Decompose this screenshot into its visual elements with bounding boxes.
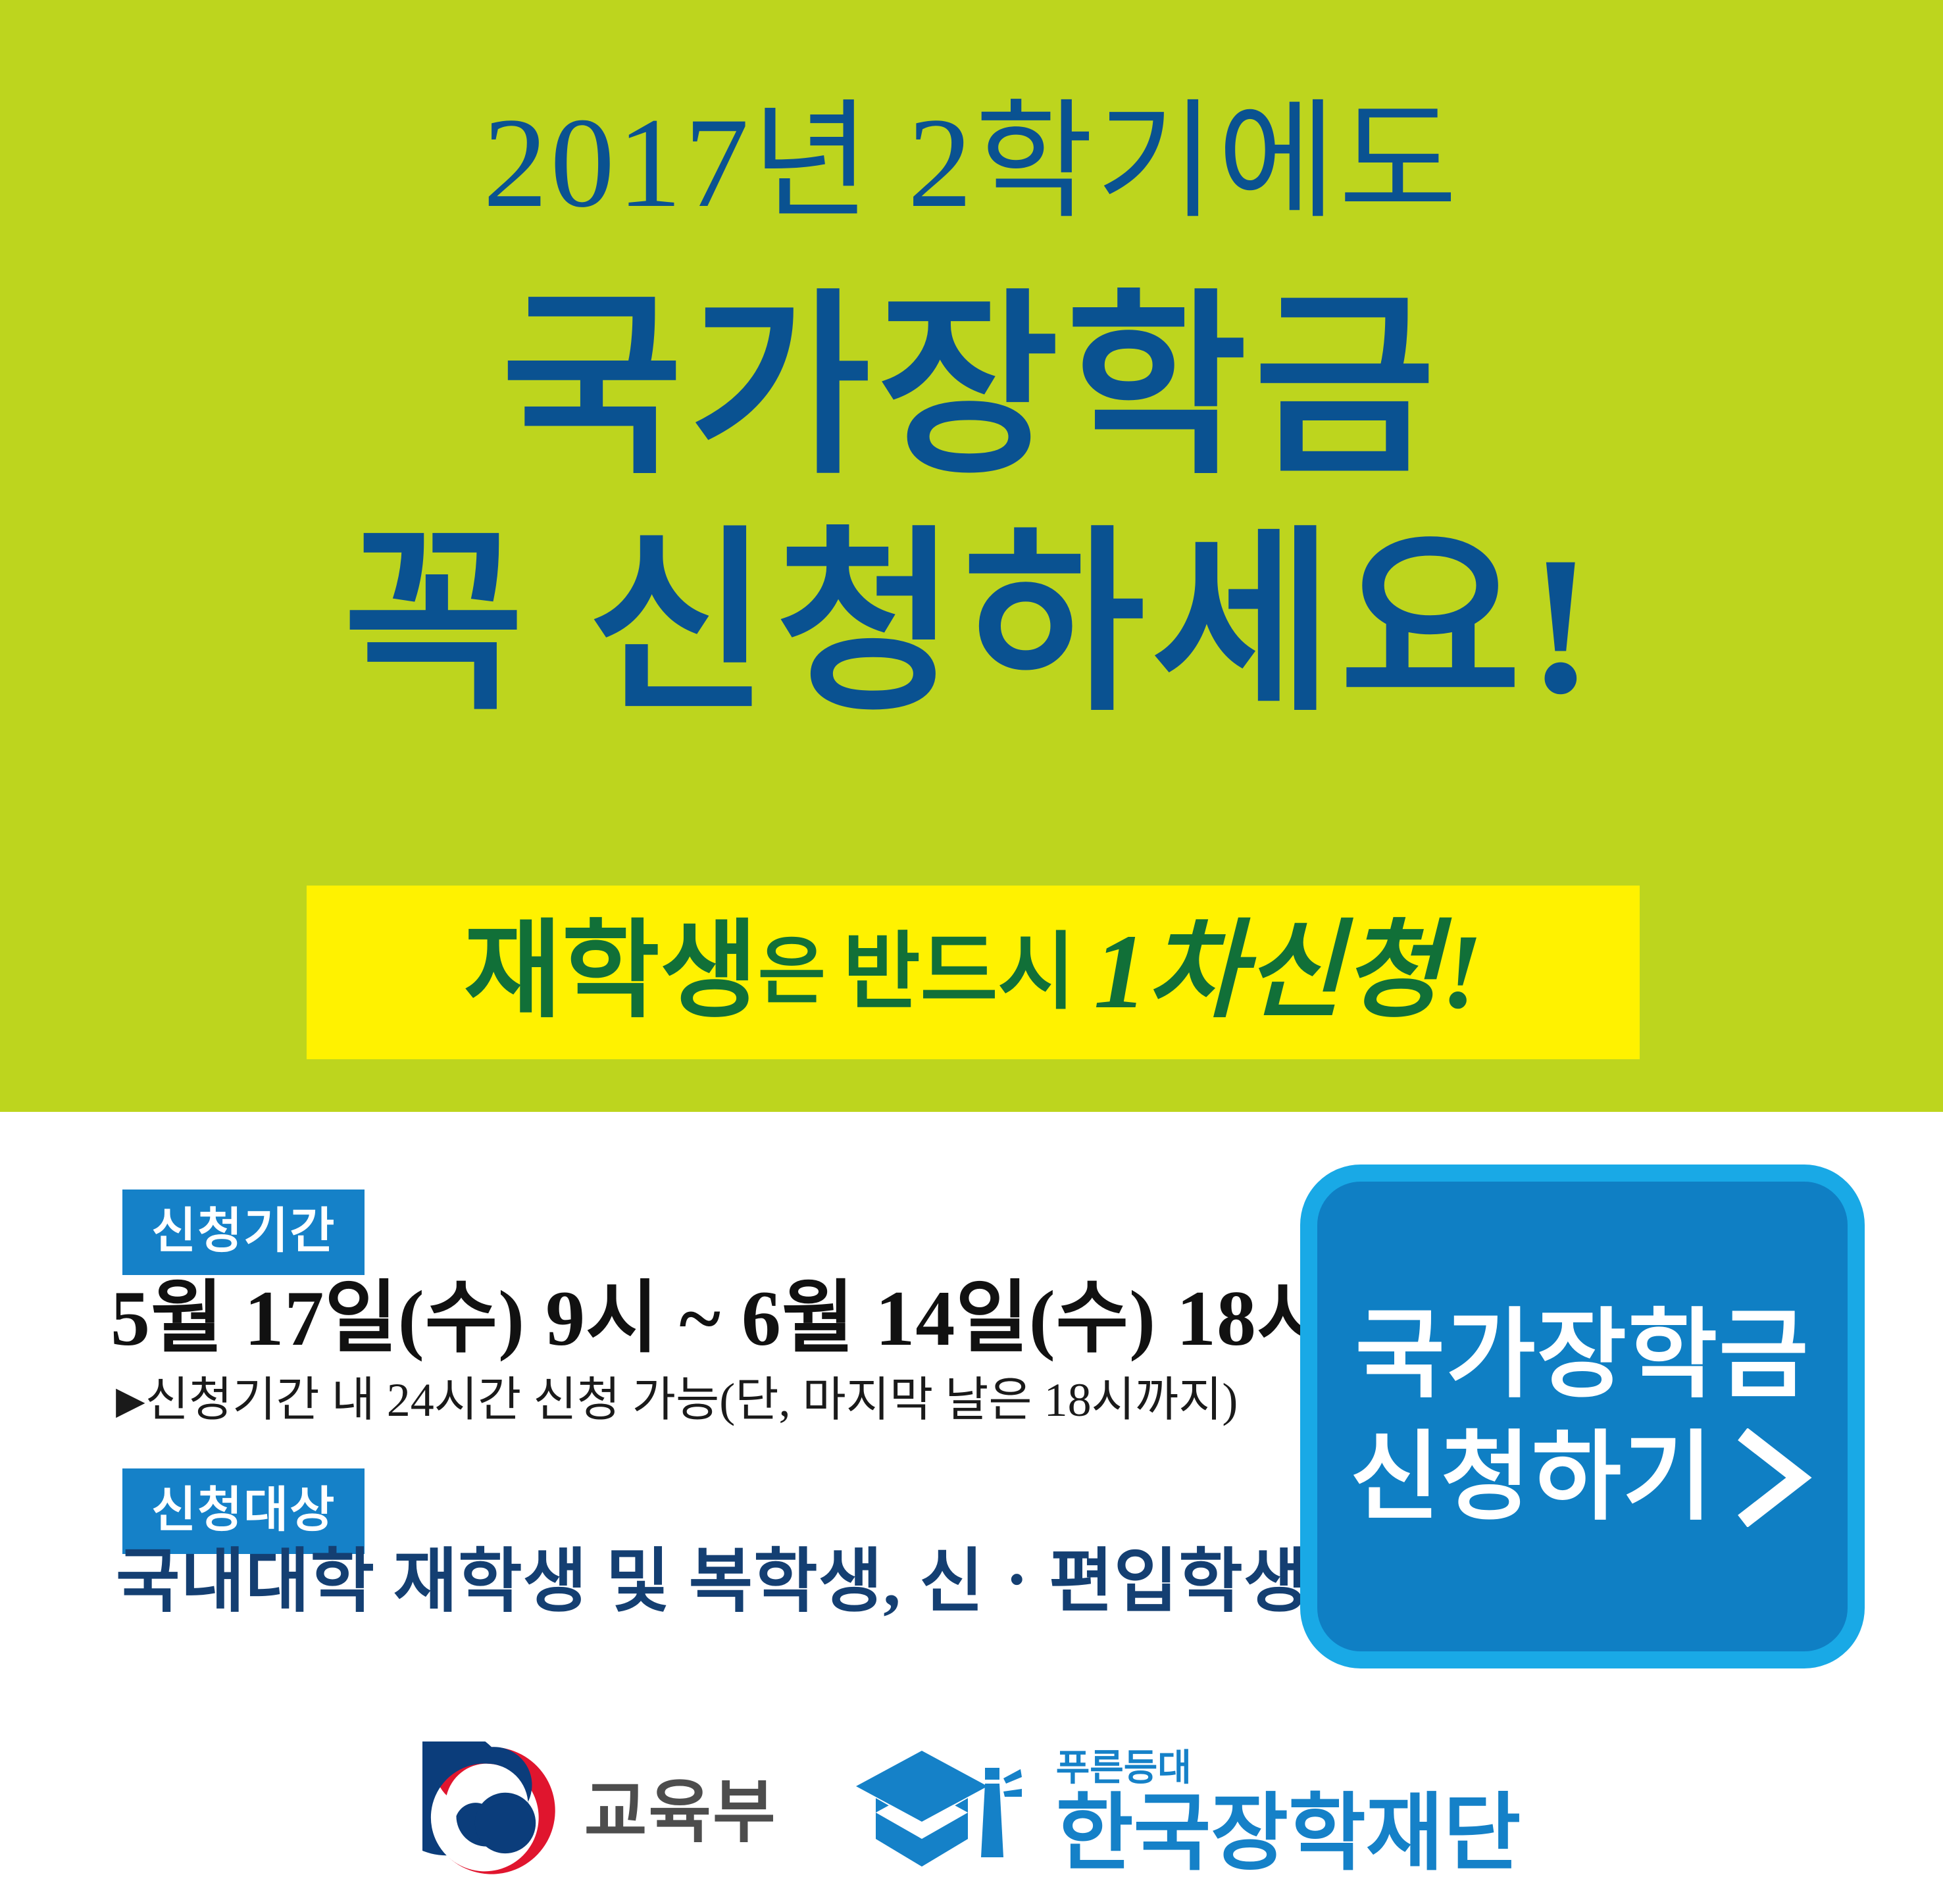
graduation-cap-lighthouse-icon: [856, 1740, 1034, 1885]
kosaf-name: 한국장학재단: [1056, 1791, 1521, 1876]
application-period-value: 5월 17일(수) 9시 ~ 6월 14일(수) 18시: [111, 1279, 1330, 1358]
highlight-banner-inner: 재학생 은 반드시 1차신청!: [307, 886, 1640, 1059]
highlight-particle: 은: [758, 936, 826, 1009]
hero-title-line-2: 꼭 신청하세요!: [0, 526, 1943, 724]
application-target-value: 국내대학 재학생 및 복학생, 신ㆍ편입학생: [116, 1547, 1308, 1617]
highlight-word-enrolled: 재학생: [464, 919, 758, 1026]
badge-application-target: 신청대상: [122, 1468, 365, 1554]
highlight-word-first-round: 1차신청!: [1094, 919, 1482, 1026]
apply-scholarship-button[interactable]: 국가장학금 신청하기: [1300, 1165, 1865, 1668]
hero-title-line-1: 국가장학금: [0, 289, 1943, 487]
highlight-word-mandatory: 반드시: [843, 930, 1075, 1015]
triangle-right-icon: ▶: [116, 1379, 145, 1422]
logo-ministry-of-education: 교육부: [422, 1741, 777, 1883]
application-period-note-row: ▶신청기간 내 24시간 신청 가능(단, 마지막 날은 18시까지): [116, 1376, 1238, 1424]
highlight-banner: 재학생 은 반드시 1차신청!: [307, 886, 1640, 1059]
apply-button-label-line-2: 신청하기: [1350, 1425, 1714, 1530]
taegeuk-emblem-icon: [422, 1741, 561, 1883]
badge-application-period: 신청기간: [122, 1190, 365, 1275]
chevron-right-icon: [1736, 1428, 1815, 1527]
application-period-note-text: 신청기간 내 24시간 신청 가능(단, 마지막 날은 18시까지): [145, 1374, 1238, 1426]
ministry-of-education-name: 교육부: [584, 1778, 777, 1847]
apply-button-label-line-1: 국가장학금: [1355, 1303, 1810, 1408]
apply-button-label-row-2: 신청하기: [1350, 1425, 1815, 1530]
logo-korea-student-aid-foundation: 푸른등대 한국장학재단: [856, 1740, 1521, 1885]
scholarship-promo-poster: 2017년 2학기에도 국가장학금 꼭 신청하세요! 재학생 은 반드시 1차신…: [0, 0, 1943, 1904]
kosaf-wordmark: 푸른등대 한국장학재단: [1056, 1749, 1521, 1876]
hero-kicker-text: 2017년 2학기에도: [0, 99, 1943, 228]
footer-logos: 교육부: [0, 1720, 1943, 1904]
kosaf-tagline: 푸른등대: [1056, 1749, 1192, 1786]
